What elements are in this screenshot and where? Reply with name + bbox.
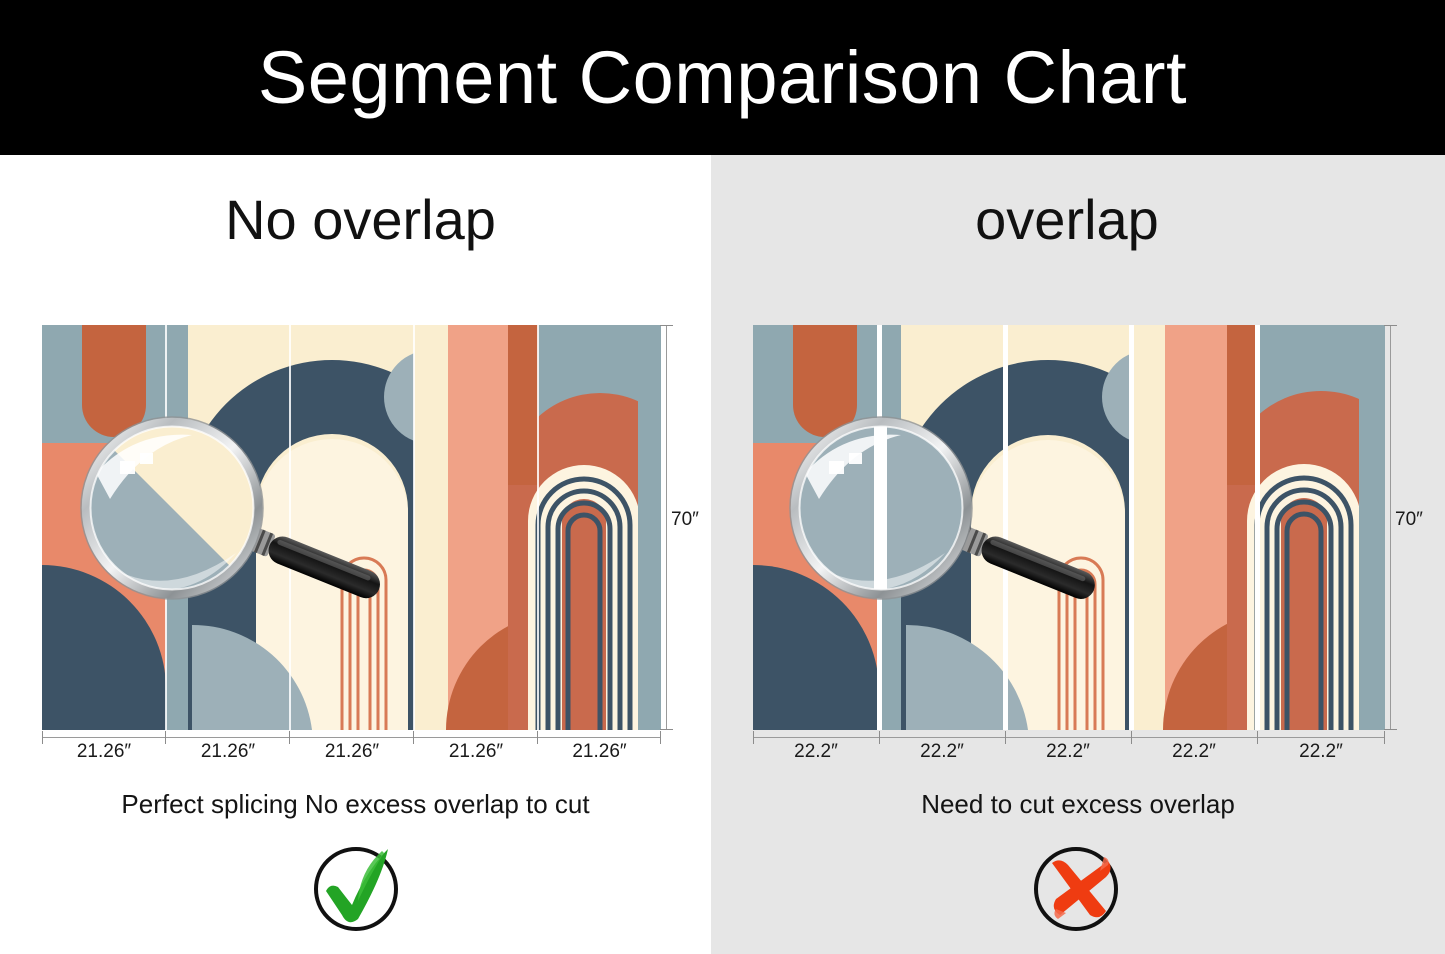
verdict-overlap	[711, 835, 1445, 939]
panel-heading-overlap: overlap	[711, 187, 1445, 252]
check-mark-icon	[304, 835, 408, 939]
cross-mark-icon	[1026, 835, 1130, 939]
magnifier-icon-right	[773, 413, 1123, 628]
height-label-left: 70″	[671, 509, 699, 531]
width-ruler-left: 21.26″ 21.26″ 21.26″ 21.26″ 21.26″	[42, 737, 661, 771]
verdict-no-overlap	[0, 835, 711, 939]
segment-label: 21.26″	[166, 741, 290, 763]
wallpaper-preview-no-overlap: 70″ 21.26″ 21.26″ 21.26″ 21.26″ 21.26″	[42, 325, 661, 730]
height-ruler-right: 70″	[1390, 325, 1424, 730]
caption-overlap: Need to cut excess overlap	[711, 789, 1445, 820]
segment-label: 21.26″	[414, 741, 538, 763]
width-ruler-right: 22.2″ 22.2″ 22.2″ 22.2″ 22.2″	[753, 737, 1385, 771]
page-title: Segment Comparison Chart	[258, 35, 1187, 120]
title-banner: Segment Comparison Chart	[0, 0, 1445, 155]
wallpaper-preview-overlap: 70″ 22.2″ 22.2″ 22.2″ 22.2″ 22.2″	[753, 325, 1385, 730]
segment-label: 21.26″	[290, 741, 414, 763]
segment-label: 22.2″	[1257, 741, 1385, 763]
segment-label: 22.2″	[1005, 741, 1131, 763]
height-ruler-left: 70″	[666, 325, 700, 730]
height-label-right: 70″	[1395, 509, 1423, 531]
segment-label: 21.26″	[538, 741, 661, 763]
segment-label: 21.26″	[42, 741, 166, 763]
segment-label: 22.2″	[879, 741, 1005, 763]
segment-comparison-page: Segment Comparison Chart No overlap	[0, 0, 1445, 954]
panel-heading-no-overlap: No overlap	[0, 187, 711, 252]
magnifier-icon-left	[64, 413, 404, 628]
segment-label: 22.2″	[753, 741, 879, 763]
caption-no-overlap: Perfect splicing No excess overlap to cu…	[0, 789, 711, 820]
comparison-panels: No overlap	[0, 155, 1445, 954]
panel-overlap: overlap	[711, 155, 1445, 954]
panel-no-overlap: No overlap	[0, 155, 711, 954]
segment-label: 22.2″	[1131, 741, 1257, 763]
